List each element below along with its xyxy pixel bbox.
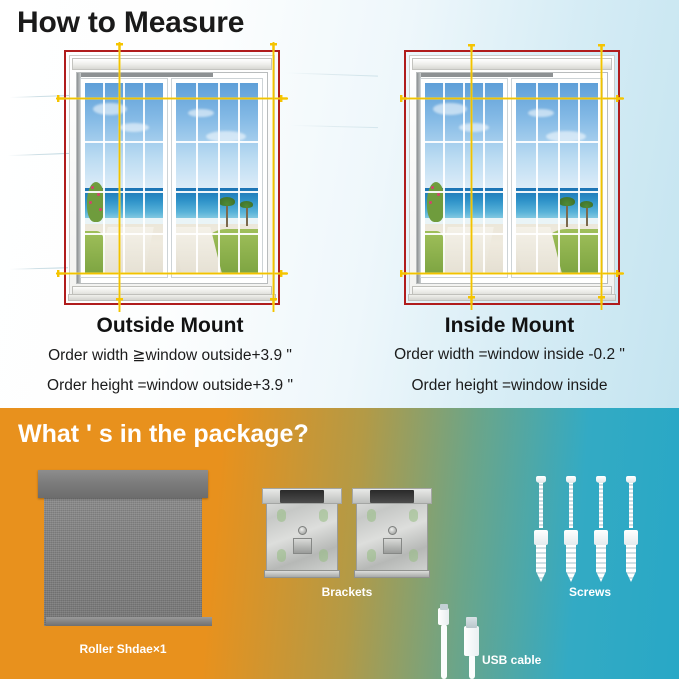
how-to-measure-section: How to Measure xyxy=(0,0,679,408)
package-contents-section: What ' s in the package? Roller Shdae×1 xyxy=(0,408,679,679)
outside-mount-window-diagram xyxy=(64,50,280,305)
outside-mount-width-rule: Order width ≧window outside+3.9 " xyxy=(0,346,340,365)
bracket-icon xyxy=(262,482,342,582)
package-title: What ' s in the package? xyxy=(18,420,309,449)
page-title: How to Measure xyxy=(17,6,244,40)
screws-label: Screws xyxy=(510,585,670,599)
outside-mount-measure-rect xyxy=(64,50,280,305)
usb-cable-label: USB cable xyxy=(482,653,572,667)
inside-mount-measure-rect xyxy=(404,50,620,305)
outside-mount-heading: Outside Mount xyxy=(0,314,340,338)
inside-mount-window-diagram xyxy=(404,50,620,305)
inside-mount-height-rule: Order height =window inside xyxy=(340,377,679,395)
how-to-measure-infographic: How to Measure xyxy=(0,0,679,679)
inside-mount-width-rule: Order width =window inside -0.2 " xyxy=(340,346,679,364)
brackets-label: Brackets xyxy=(262,585,432,599)
outside-mount-height-rule: Order height =window outside+3.9 " xyxy=(0,377,340,395)
roller-shade-label: Roller Shdae×1 xyxy=(38,642,208,656)
roller-shade-icon xyxy=(38,470,208,635)
bracket-icon xyxy=(352,482,432,582)
inside-mount-heading: Inside Mount xyxy=(340,314,679,338)
